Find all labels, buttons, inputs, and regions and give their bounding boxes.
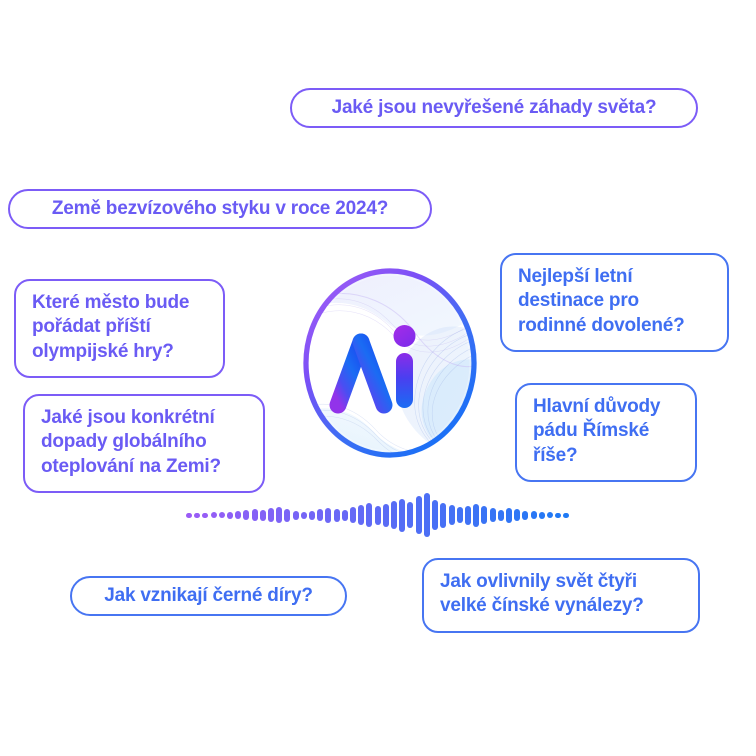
suggestion-canvas: Jaké jsou nevyřešené záhady světa? Země …	[0, 0, 756, 756]
waveform-bar	[252, 509, 258, 521]
suggestion-fall-of-rome[interactable]: Hlavní důvody pádu Římské říše?	[515, 383, 697, 482]
waveform-bar	[522, 511, 528, 520]
waveform-bar	[194, 513, 200, 518]
ai-orb-logo[interactable]	[300, 268, 480, 458]
waveform-bar	[432, 500, 438, 530]
suggestion-visa-free-countries[interactable]: Země bezvízového styku v roce 2024?	[8, 189, 432, 229]
waveform-bar	[334, 509, 340, 522]
waveform-bar	[293, 511, 299, 520]
waveform-bar	[547, 512, 553, 518]
waveform-bar	[399, 499, 405, 532]
waveform-bar	[235, 511, 241, 519]
waveform-bar	[498, 510, 504, 521]
waveform-bar	[309, 511, 315, 520]
suggestion-four-great-inventions[interactable]: Jak ovlivnily svět čtyři velké čínské vy…	[422, 558, 700, 633]
waveform-bar	[539, 512, 545, 519]
waveform-bar	[555, 513, 561, 518]
waveform-bar	[211, 512, 217, 518]
orb-wave-layers	[300, 268, 480, 458]
waveform-bar	[424, 493, 430, 537]
waveform-bar	[506, 508, 512, 523]
waveform-bar	[440, 503, 446, 528]
suggestion-next-olympics-host[interactable]: Které město bude pořádat příští olympijs…	[14, 279, 225, 378]
waveform-bar	[481, 506, 487, 524]
waveform-bar	[325, 508, 331, 523]
waveform-bar	[284, 509, 290, 522]
logo-letter-i	[394, 325, 416, 408]
waveform-bar	[465, 506, 471, 525]
waveform-bar	[202, 513, 208, 518]
waveform-bar	[563, 513, 569, 518]
waveform-bar	[276, 507, 282, 523]
waveform-bar	[219, 512, 225, 518]
waveform-bar	[407, 502, 413, 528]
waveform-bar	[449, 505, 455, 525]
waveform-bar	[268, 508, 274, 522]
waveform-bar	[473, 504, 479, 527]
suggestion-summer-family-destinations[interactable]: Nejlepší letní destinace pro rodinné dov…	[500, 253, 729, 352]
suggestion-mysteries[interactable]: Jaké jsou nevyřešené záhady světa?	[290, 88, 698, 128]
waveform-bar	[490, 508, 496, 522]
waveform-bar	[416, 496, 422, 534]
waveform-bar	[514, 509, 520, 521]
waveform-bar	[350, 507, 356, 523]
waveform-bar	[186, 513, 192, 518]
suggestion-global-warming-impacts[interactable]: Jaké jsou konkrétní dopady globálního ot…	[23, 394, 265, 493]
waveform-bar	[366, 503, 372, 527]
waveform-bar	[317, 509, 323, 521]
waveform-bar	[243, 510, 249, 520]
waveform-bar	[260, 510, 266, 521]
waveform-bar	[301, 512, 307, 519]
waveform-bar	[358, 505, 364, 525]
waveform-bar	[457, 507, 463, 523]
logo-letter-a	[338, 342, 384, 405]
waveform-bar	[391, 501, 397, 529]
waveform-bar	[383, 504, 389, 527]
voice-waveform[interactable]	[186, 492, 570, 538]
suggestion-black-holes[interactable]: Jak vznikají černé díry?	[70, 576, 347, 616]
waveform-bar	[342, 510, 348, 521]
waveform-bar	[531, 511, 537, 519]
waveform-bar	[375, 506, 381, 525]
waveform-bar	[227, 512, 233, 519]
